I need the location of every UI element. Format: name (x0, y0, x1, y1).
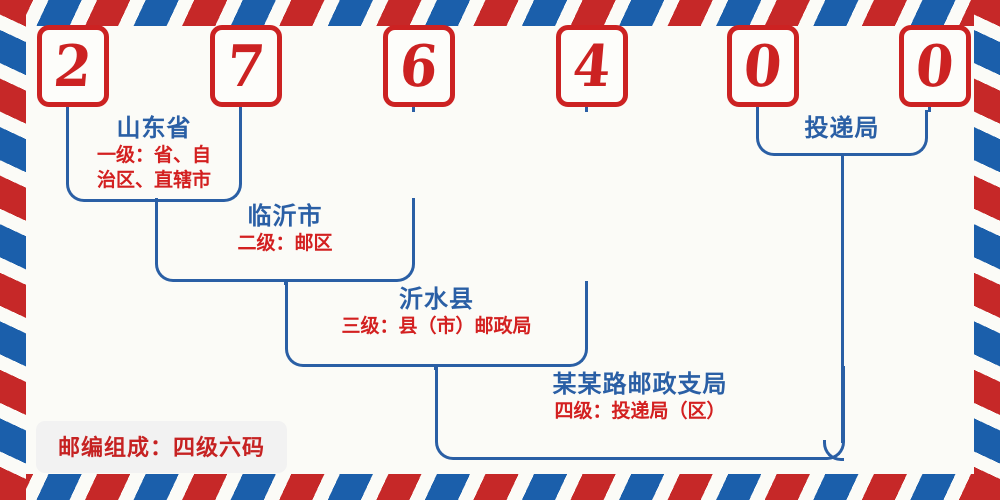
digit-card-2[interactable]: 7 (210, 25, 282, 107)
level-box-4[interactable]: 某某路邮政支局 四级：投递局（区） (435, 366, 845, 460)
digit-card-4[interactable]: 4 (556, 25, 628, 107)
level-2-detail: 二级：邮区 (158, 232, 412, 254)
level-1-name: 山东省 (69, 114, 239, 142)
digit-value-1: 2 (52, 37, 95, 94)
level-box-1-content: 山东省 一级：省、自 治区、直辖市 (69, 110, 239, 191)
level-box-1[interactable]: 山东省 一级：省、自 治区、直辖市 (66, 110, 242, 202)
footer-note-badge: 邮编组成：四级六码 (36, 421, 287, 473)
level-3-name: 沂水县 (288, 285, 585, 313)
digit-card-1[interactable]: 2 (37, 25, 109, 107)
level-box-3[interactable]: 沂水县 三级：县（市）邮政局 (285, 281, 588, 367)
digit-card-3[interactable]: 6 (383, 25, 455, 107)
level-box-3-content: 沂水县 三级：县（市）邮政局 (288, 281, 585, 338)
digit-card-5[interactable]: 0 (727, 25, 799, 107)
level-box-2[interactable]: 临沂市 二级：邮区 (155, 198, 415, 282)
level-1-detail-line2: 治区、直辖市 (69, 169, 239, 191)
delivery-office-content: 投递局 (759, 110, 925, 142)
level-3-detail: 三级：县（市）邮政局 (288, 315, 585, 337)
digit-value-5: 0 (742, 37, 785, 94)
level-4-name: 某某路邮政支局 (438, 370, 842, 398)
footer-note-text: 邮编组成：四级六码 (58, 435, 265, 461)
digit-value-2: 7 (225, 37, 268, 94)
delivery-office-name: 投递局 (759, 114, 925, 142)
level-4-detail: 四级：投递局（区） (438, 400, 842, 422)
digit-value-6: 0 (914, 37, 957, 94)
level-box-2-content: 临沂市 二级：邮区 (158, 198, 412, 255)
postal-code-breakdown-diagram: 2 7 6 4 0 0 山东省 一级：省、自 治区、直辖市 临沂市 二级：邮区 (0, 0, 1000, 500)
level-1-detail: 一级：省、自 (69, 144, 239, 166)
delivery-office-box[interactable]: 投递局 (756, 110, 928, 156)
level-box-4-content: 某某路邮政支局 四级：投递局（区） (438, 366, 842, 423)
digit-value-4: 4 (571, 37, 614, 94)
digit-value-3: 6 (398, 37, 441, 94)
level-2-name: 临沂市 (158, 202, 412, 230)
digit-card-6[interactable]: 0 (899, 25, 971, 107)
